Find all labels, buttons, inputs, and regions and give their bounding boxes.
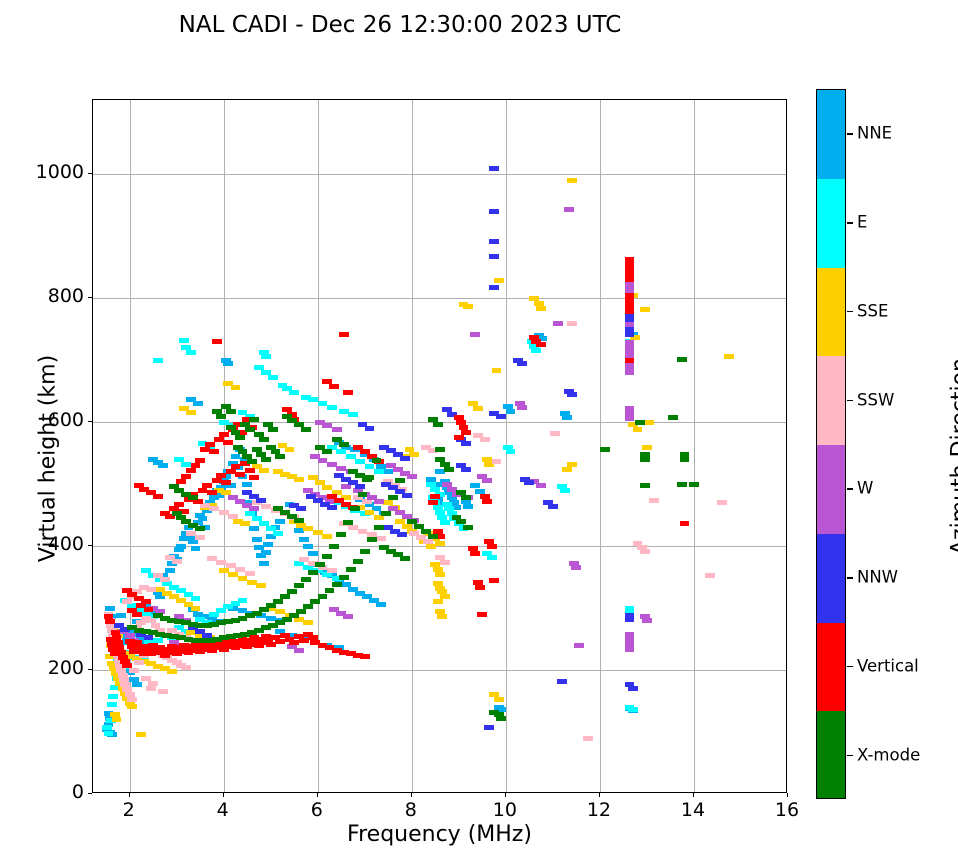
scatter-point [235, 435, 245, 440]
scatter-point [343, 390, 353, 395]
scatter-point [104, 731, 114, 736]
scatter-point [400, 456, 410, 461]
scatter-point [202, 483, 212, 488]
scatter-point [252, 537, 262, 542]
scatter-point [102, 725, 112, 730]
scatter-point [195, 526, 205, 531]
scatter-point [310, 599, 320, 604]
scatter-point [482, 478, 492, 483]
scatter-point [480, 437, 490, 442]
scatter-point [191, 546, 201, 551]
scatter-point [625, 370, 635, 375]
scatter-point [294, 648, 304, 653]
scatter-point [294, 528, 304, 533]
scatter-point [273, 599, 283, 604]
scatter-point [470, 332, 480, 337]
scatter-point [249, 526, 259, 531]
scatter-point [134, 483, 144, 488]
scatter-point [433, 422, 443, 427]
scatter-point [221, 480, 231, 485]
scatter-point [423, 539, 433, 544]
colorbar-tick-mark [847, 666, 853, 667]
scatter-point [191, 606, 201, 611]
scatter-point [167, 669, 177, 674]
scatter-point [407, 474, 417, 479]
scatter-point [339, 575, 349, 580]
scatter-point [435, 572, 445, 577]
scatter-point [261, 457, 271, 462]
scatter-point [231, 385, 241, 390]
scatter-point [209, 506, 219, 511]
gridline-vertical [224, 100, 225, 792]
scatter-point [303, 620, 313, 625]
colorbar-label-sse: SSE [857, 301, 888, 320]
scatter-point [263, 542, 273, 547]
scatter-point [571, 565, 581, 570]
scatter-point [336, 466, 346, 471]
scatter-point [322, 449, 332, 454]
scatter-point [625, 647, 635, 652]
x-tick-mark [787, 793, 788, 797]
gridline-vertical [694, 100, 695, 792]
scatter-point [332, 427, 342, 432]
scatter-point [299, 557, 309, 562]
scatter-point [717, 500, 727, 505]
colorbar-label-nne: NNE [857, 124, 892, 143]
scatter-point [214, 437, 224, 442]
scatter-point [141, 599, 151, 604]
scatter-point [329, 544, 339, 549]
scatter-point [172, 559, 182, 564]
scatter-point [122, 663, 132, 668]
scatter-point [153, 494, 163, 499]
colorbar-segment-e[interactable] [817, 179, 845, 268]
scatter-point [536, 342, 546, 347]
scatter-point [435, 469, 445, 474]
scatter-point [322, 485, 332, 490]
scatter-point [303, 526, 313, 531]
colorbar-segment-x-mode[interactable] [817, 711, 845, 799]
scatter-point [353, 559, 363, 564]
scatter-point [144, 635, 154, 640]
scatter-point [348, 525, 358, 530]
scatter-point [315, 562, 325, 567]
scatter-point [181, 665, 191, 670]
scatter-point [548, 504, 558, 509]
scatter-point [668, 415, 678, 420]
scatter-point [105, 606, 115, 611]
scatter-point [256, 583, 266, 588]
scatter-point [496, 414, 506, 419]
scatter-point [397, 532, 407, 537]
scatter-point [332, 582, 342, 587]
scatter-point [144, 607, 154, 612]
scatter-point [494, 697, 504, 702]
scatter-point [299, 537, 309, 542]
x-tick-label: 2 [106, 799, 152, 821]
scatter-point [181, 462, 191, 467]
scatter-point [129, 668, 139, 673]
scatter-point [179, 338, 189, 343]
scatter-point [470, 483, 480, 488]
scatter-point [216, 560, 226, 565]
scatter-point [294, 477, 304, 482]
scatter-point [322, 423, 332, 428]
scatter-point [186, 468, 196, 473]
y-tick-mark [88, 297, 92, 298]
scatter-point [677, 482, 687, 487]
scatter-point [372, 458, 382, 463]
scatter-point [489, 254, 499, 259]
colorbar-tick-mark [847, 311, 853, 312]
scatter-point [426, 544, 436, 549]
scatter-point [296, 609, 306, 614]
y-axis-title: Virtual height (km) [36, 239, 61, 679]
scatter-point [383, 469, 393, 474]
scatter-point [625, 277, 635, 282]
scatter-point [336, 449, 346, 454]
scatter-point [628, 707, 638, 712]
colorbar-segment-sse[interactable] [817, 268, 845, 357]
scatter-point [562, 415, 572, 420]
scatter-point [186, 531, 196, 536]
scatter-point [198, 488, 208, 493]
scatter-point [322, 534, 332, 539]
scatter-point [489, 710, 499, 715]
scatter-point [440, 560, 450, 565]
scatter-point [308, 570, 318, 575]
colorbar-segment-vertical[interactable] [817, 623, 845, 712]
scatter-point [625, 617, 635, 622]
scatter-point [174, 502, 184, 507]
scatter-point [193, 401, 203, 406]
scatter-point [188, 495, 198, 500]
colorbar-tick-mark [847, 755, 853, 756]
x-tick-label: 8 [388, 799, 434, 821]
scatter-point [273, 531, 283, 536]
scatter-point [268, 427, 278, 432]
x-tick-label: 6 [294, 799, 340, 821]
scatter-point [642, 445, 652, 450]
scatter-point [536, 483, 546, 488]
scatter-point [226, 469, 236, 474]
scatter-point [146, 587, 156, 592]
scatter-point [374, 469, 384, 474]
scatter-point [285, 447, 295, 452]
scatter-point [325, 588, 335, 593]
scatter-point [186, 350, 196, 355]
colorbar-segment-w[interactable] [817, 445, 845, 534]
scatter-point [348, 412, 358, 417]
scatter-point [294, 583, 304, 588]
scatter-point [553, 321, 563, 326]
x-tick-mark [505, 793, 506, 797]
scatter-point [564, 207, 574, 212]
scatter-point [254, 365, 264, 370]
scatter-point [440, 520, 450, 525]
scatter-point [247, 580, 257, 585]
x-tick-label: 14 [670, 799, 716, 821]
scatter-point [567, 321, 577, 326]
x-tick-label: 16 [764, 799, 810, 821]
scatter-point [256, 498, 266, 503]
scatter-point [644, 420, 654, 425]
scatter-point [642, 618, 652, 623]
scatter-point [343, 614, 353, 619]
scatter-point [245, 427, 255, 432]
scatter-point [536, 306, 546, 311]
scatter-point [146, 686, 156, 691]
scatter-point [360, 549, 370, 554]
scatter-point [136, 620, 146, 625]
scatter-point [245, 468, 255, 473]
scatter-point [108, 694, 118, 699]
scatter-point [640, 307, 650, 312]
scatter-point [463, 304, 473, 309]
scatter-point [336, 532, 346, 537]
scatter-point [240, 521, 250, 526]
scatter-point [313, 530, 323, 535]
colorbar-segment-nne[interactable] [817, 90, 845, 179]
scatter-point [470, 551, 480, 556]
scatter-point [339, 332, 349, 337]
scatter-point [680, 457, 690, 462]
scatter-point [132, 612, 142, 617]
scatter-point [259, 468, 269, 473]
scatter-point [235, 472, 245, 477]
scatter-point [275, 454, 285, 459]
scatter-point [635, 420, 645, 425]
scatter-point [242, 482, 252, 487]
scatter-point [494, 278, 504, 283]
scatter-point [249, 417, 259, 422]
scatter-point [226, 409, 236, 414]
scatter-point [487, 555, 497, 560]
scatter-point [294, 518, 304, 523]
plot-area[interactable] [92, 99, 787, 793]
scatter-point [209, 449, 219, 454]
colorbar-segment-ssw[interactable] [817, 356, 845, 445]
scatter-point [280, 594, 290, 599]
colorbar-tick-mark [847, 133, 853, 134]
scatter-point [200, 447, 210, 452]
scatter-point [343, 520, 353, 525]
x-tick-mark [317, 793, 318, 797]
scatter-point [463, 504, 473, 509]
scatter-point [303, 604, 313, 609]
scatter-point [724, 354, 734, 359]
scatter-point [346, 454, 356, 459]
scatter-point [116, 613, 126, 618]
scatter-point [358, 492, 368, 497]
scatter-point [112, 717, 122, 722]
scatter-point [301, 427, 311, 432]
scatter-point [235, 567, 245, 572]
scatter-point [524, 480, 534, 485]
scatter-point [355, 459, 365, 464]
scatter-point [160, 577, 170, 582]
scatter-point [153, 358, 163, 363]
scatter-point [625, 416, 635, 421]
scatter-point [625, 309, 635, 314]
scatter-point [231, 454, 241, 459]
scatter-point [350, 506, 360, 511]
gridline-horizontal [93, 298, 786, 299]
y-tick-mark [88, 669, 92, 670]
scatter-point [219, 510, 229, 515]
scatter-point [105, 619, 115, 624]
scatter-point [216, 414, 226, 419]
scatter-point [506, 449, 516, 454]
scatter-point [261, 370, 271, 375]
colorbar[interactable] [816, 89, 846, 799]
scatter-point [360, 654, 370, 659]
scatter-point [433, 599, 443, 604]
scatter-point [689, 482, 699, 487]
scatter-point [327, 568, 337, 573]
scatter-point [212, 478, 222, 483]
scatter-point [296, 506, 306, 511]
scatter-point [550, 431, 560, 436]
x-tick-label: 10 [482, 799, 528, 821]
scatter-point [136, 732, 146, 737]
scatter-point [567, 392, 577, 397]
scatter-point [517, 405, 527, 410]
scatter-point [219, 568, 229, 573]
scatter-point [268, 375, 278, 380]
scatter-point [289, 390, 299, 395]
scatter-point [562, 467, 572, 472]
scatter-point [165, 568, 175, 573]
scatter-point [435, 447, 445, 452]
scatter-point [287, 589, 297, 594]
scatter-point [376, 536, 386, 541]
scatter-point [301, 577, 311, 582]
scatter-point [567, 178, 577, 183]
scatter-point [492, 368, 502, 373]
scatter-point [444, 467, 454, 472]
scatter-point [489, 239, 499, 244]
scatter-point [463, 525, 473, 530]
x-tick-mark [693, 793, 694, 797]
scatter-point [456, 519, 466, 524]
scatter-point [640, 483, 650, 488]
scatter-point [628, 686, 638, 691]
scatter-point [299, 638, 309, 643]
scatter-point [633, 427, 643, 432]
scatter-point [402, 493, 412, 498]
scatter-point [238, 576, 248, 581]
scatter-point [207, 490, 217, 495]
scatter-point [625, 358, 635, 363]
scatter-point [318, 401, 328, 406]
scatter-point [640, 549, 650, 554]
scatter-point [358, 529, 368, 534]
scatter-point [649, 498, 659, 503]
scatter-point [308, 397, 318, 402]
scatter-point [482, 499, 492, 504]
scatter-point [259, 561, 269, 566]
scatter-point [226, 563, 236, 568]
colorbar-label-nnw: NNW [857, 568, 898, 587]
scatter-point [245, 571, 255, 576]
scatter-point [489, 209, 499, 214]
scatter-point [261, 354, 271, 359]
scatter-point [346, 567, 356, 572]
colorbar-title: Azimuth Direction [948, 237, 958, 677]
y-tick-mark [88, 173, 92, 174]
scatter-point [395, 478, 405, 483]
scatter-point [517, 361, 527, 366]
scatter-point [560, 488, 570, 493]
scatter-point [574, 643, 584, 648]
scatter-point [249, 475, 259, 480]
scatter-point [238, 598, 248, 603]
scatter-point [186, 410, 196, 415]
scatter-point [625, 317, 635, 322]
scatter-point [428, 500, 438, 505]
colorbar-tick-mark [847, 577, 853, 578]
scatter-point [374, 525, 384, 530]
scatter-point [207, 556, 217, 561]
scatter-point [231, 464, 241, 469]
scatter-point [625, 332, 635, 337]
x-tick-mark [599, 793, 600, 797]
scatter-point [496, 716, 506, 721]
x-tick-mark [223, 793, 224, 797]
scatter-point [318, 458, 328, 463]
y-tick-mark [88, 421, 92, 422]
colorbar-tick-mark [847, 222, 853, 223]
scatter-point [247, 459, 257, 464]
scatter-point [228, 572, 238, 577]
scatter-point [506, 409, 516, 414]
scatter-point [640, 457, 650, 462]
scatter-point [176, 515, 186, 520]
scatter-point [365, 510, 375, 515]
scatter-point [365, 426, 375, 431]
scatter-point [127, 704, 137, 709]
x-tick-mark [129, 793, 130, 797]
scatter-point [381, 511, 391, 516]
scatter-point [489, 285, 499, 290]
scatter-point [374, 499, 384, 504]
gridline-horizontal [93, 174, 786, 175]
scatter-point [557, 679, 567, 684]
scatter-point [489, 578, 499, 583]
scatter-point [461, 467, 471, 472]
scatter-point [339, 409, 349, 414]
scatter-point [261, 550, 271, 555]
scatter-point [437, 614, 447, 619]
scatter-point [376, 602, 386, 607]
x-axis-title: Frequency (MHz) [92, 822, 787, 847]
colorbar-label-ssw: SSW [857, 390, 894, 409]
scatter-point [339, 442, 349, 447]
colorbar-label-e: E [857, 213, 867, 232]
scatter-point [461, 441, 471, 446]
scatter-point [600, 447, 610, 452]
x-tick-mark [411, 793, 412, 797]
scatter-point [430, 494, 440, 499]
scatter-point [195, 535, 205, 540]
scatter-point [127, 697, 137, 702]
y-tick-mark [88, 545, 92, 546]
scatter-point [308, 551, 318, 556]
colorbar-segment-nnw[interactable] [817, 534, 845, 623]
scatter-point [388, 495, 398, 500]
y-tick-mark [88, 793, 92, 794]
